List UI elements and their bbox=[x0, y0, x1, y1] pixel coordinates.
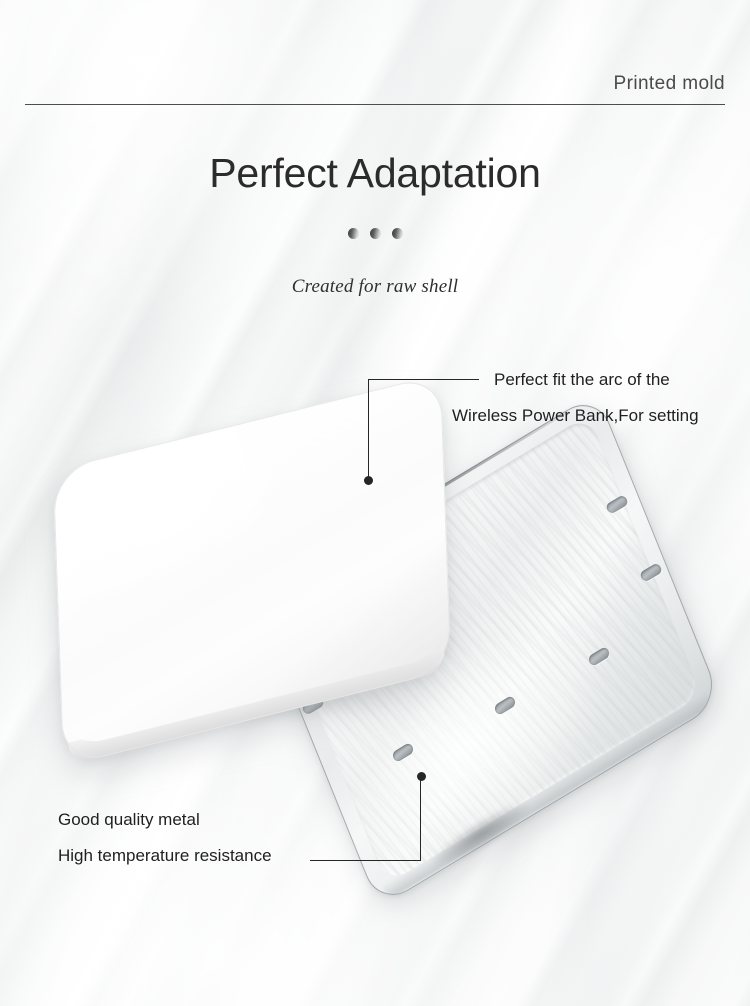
page-title: Perfect Adaptation bbox=[0, 148, 750, 198]
header-divider-rule bbox=[25, 104, 725, 105]
callout-anchor-dot-bottom bbox=[417, 772, 426, 781]
callout-anchor-dot-top bbox=[364, 476, 373, 485]
divider-dot-1 bbox=[348, 228, 359, 239]
callout-top-line2: Wireless Power Bank,For setting bbox=[452, 398, 699, 434]
callout-leader-horizontal-bottom bbox=[310, 860, 421, 861]
callout-bottom-line1: Good quality metal bbox=[58, 802, 200, 838]
marketing-banner: Printed mold Perfect Adaptation Created … bbox=[0, 0, 750, 1006]
divider-dot-3 bbox=[392, 228, 403, 239]
callout-leader-vertical-top bbox=[368, 379, 369, 480]
white-plastic-shell bbox=[52, 425, 452, 715]
callout-bottom-line2: High temperature resistance bbox=[58, 838, 272, 874]
callout-leader-horizontal-top bbox=[368, 379, 479, 380]
page-subtitle: Created for raw shell bbox=[0, 276, 750, 298]
callout-leader-vertical-bottom bbox=[420, 777, 421, 861]
header-label: Printed mold bbox=[614, 73, 725, 95]
callout-top-line1: Perfect fit the arc of the bbox=[494, 362, 670, 398]
divider-dots bbox=[0, 228, 750, 239]
divider-dot-2 bbox=[370, 228, 381, 239]
